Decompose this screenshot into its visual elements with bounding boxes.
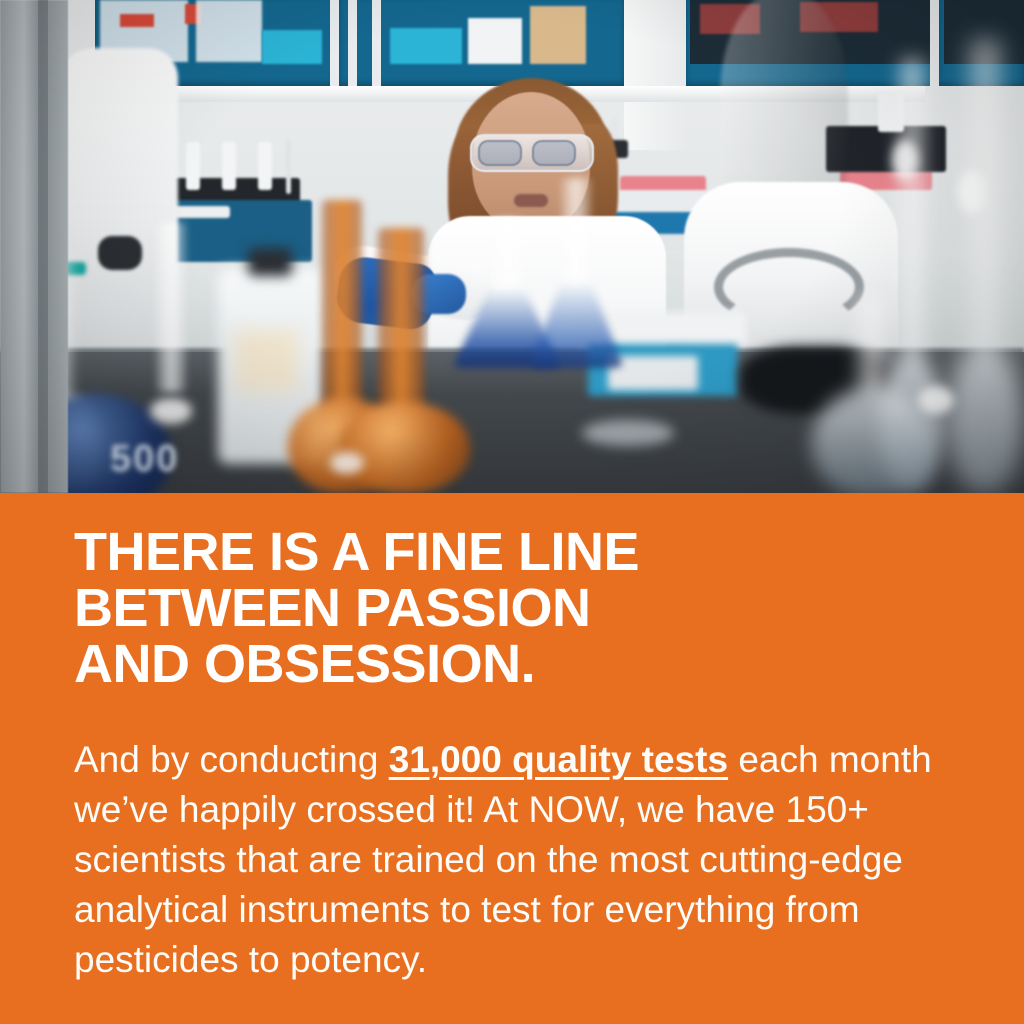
scientist-right-blonde xyxy=(690,0,890,332)
amber-flask-b-bulb xyxy=(340,402,470,493)
glint-right-b xyxy=(958,170,986,214)
bottle-label xyxy=(236,330,298,392)
instrument-console-panel xyxy=(172,206,230,218)
lab-tube-b xyxy=(222,142,236,190)
erlenmeyer-neck xyxy=(491,218,523,296)
flask-right-mid-bulb xyxy=(812,388,932,493)
shelf-item-teal-2 xyxy=(390,28,462,64)
glint-right-a xyxy=(892,140,918,180)
body-text-before: And by conducting xyxy=(74,739,389,780)
lab-tube-c xyxy=(258,142,272,190)
cabinet-left-glass-2 xyxy=(196,0,262,62)
goggle-lens-left xyxy=(478,140,522,166)
lab-tube-a xyxy=(186,142,200,190)
shelf-item-red-a xyxy=(120,14,154,27)
laboratory-scientists-photo: 500 xyxy=(0,0,1024,493)
petri-dish xyxy=(582,420,674,446)
reagent-bottle-cap xyxy=(248,248,292,276)
glint-amber xyxy=(330,452,364,474)
amber-flask-a-neck xyxy=(322,200,362,430)
page-title: THERE IS A FINE LINE BETWEEN PASSION AND… xyxy=(74,524,974,692)
goggle-lens-right xyxy=(532,140,576,166)
cabinet-stile-b xyxy=(348,0,357,86)
erlenmeyer-2-neck xyxy=(561,178,591,290)
instrument-stand-rod xyxy=(286,140,291,194)
flask-blue-neck xyxy=(156,222,186,392)
shelf-item-white xyxy=(468,18,522,64)
erlenmeyer-center-2 xyxy=(528,178,624,368)
cabinet-stile-c xyxy=(372,0,381,86)
left-frame-post-groove xyxy=(38,0,48,493)
flask-right-mid-neck xyxy=(855,296,889,394)
body-paragraph: And by conducting 31,000 quality tests e… xyxy=(74,735,942,985)
flask-right-tall-b xyxy=(946,40,1024,493)
marketing-poster: 500 xyxy=(0,0,1024,1024)
flask-right-mid xyxy=(812,296,932,493)
cabinet-stile-a xyxy=(330,0,339,86)
stat-emphasis: 31,000 quality tests xyxy=(389,739,728,780)
flask-volume-label: 500 xyxy=(110,438,179,481)
glint-right-c xyxy=(918,386,954,414)
left-frame-post xyxy=(0,0,68,493)
shelf-item-teal xyxy=(262,30,322,64)
glint-blue-flask xyxy=(150,398,192,424)
erlenmeyer-2-body xyxy=(528,284,624,368)
flask-right-b-bulb xyxy=(946,344,1024,493)
shelf-item-box xyxy=(530,6,586,64)
